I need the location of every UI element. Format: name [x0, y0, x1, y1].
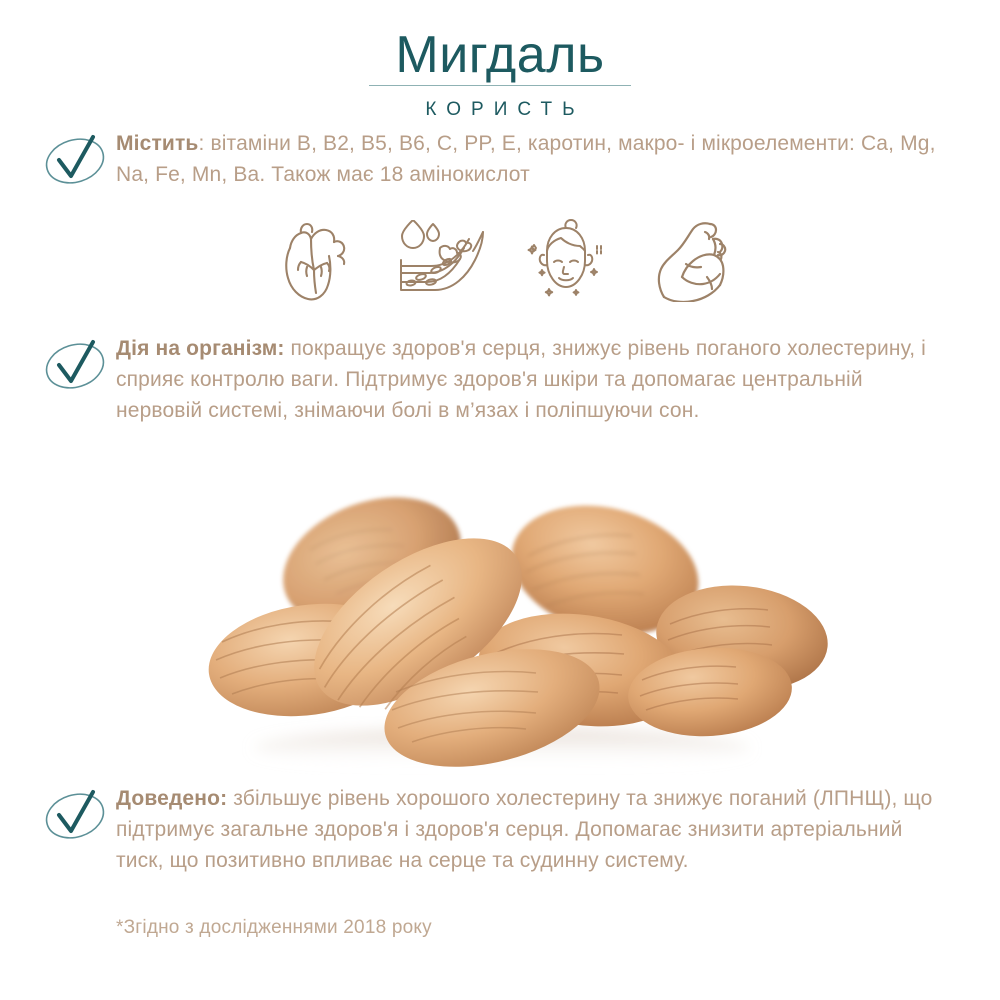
page-title: Мигдаль	[0, 26, 1000, 84]
check-mark-icon	[42, 128, 108, 194]
bullet-effect-text: Дія на організм: покращує здоров'я серця…	[116, 333, 936, 426]
benefit-icon-row	[268, 214, 738, 306]
bullet-proven-body: збільшує рівень хорошого холестерину та …	[116, 787, 932, 872]
bullet-contains-body: вітаміни B, B2, B5, B6, C, PP, E, кароти…	[116, 132, 936, 186]
infographic-page: Мигдаль КОРИСТЬ Містить: вітаміни B, B2,…	[0, 0, 1000, 1000]
heart-icon	[268, 214, 360, 306]
bullet-proven-label: Доведено:	[116, 787, 227, 810]
bullet-proven-text: Доведено: збільшує рівень хорошого холес…	[116, 783, 936, 876]
almonds-photo	[150, 470, 850, 775]
bullet-contains-separator: :	[198, 132, 210, 155]
bullet-proven: Доведено: збільшує рівень хорошого холес…	[0, 783, 936, 876]
page-subtitle: КОРИСТЬ	[0, 98, 1000, 122]
page-header: Мигдаль КОРИСТЬ	[0, 26, 1000, 122]
bullet-contains-text: Містить: вітаміни B, B2, B5, B6, C, PP, …	[116, 128, 936, 190]
title-divider	[369, 85, 631, 86]
bullet-effect-label: Дія на організм:	[116, 337, 285, 360]
bullet-contains-label: Містить	[116, 132, 198, 155]
blood-vessel-icon	[394, 214, 486, 306]
bullet-contains: Містить: вітаміни B, B2, B5, B6, C, PP, …	[0, 128, 936, 194]
face-skin-icon	[520, 214, 612, 306]
footnote: *Згідно з дослідженнями 2018 року	[116, 915, 432, 941]
check-mark-icon	[42, 333, 108, 399]
check-mark-icon	[42, 783, 108, 849]
bullet-effect: Дія на організм: покращує здоров'я серця…	[0, 333, 936, 426]
muscle-arm-icon	[646, 214, 738, 306]
